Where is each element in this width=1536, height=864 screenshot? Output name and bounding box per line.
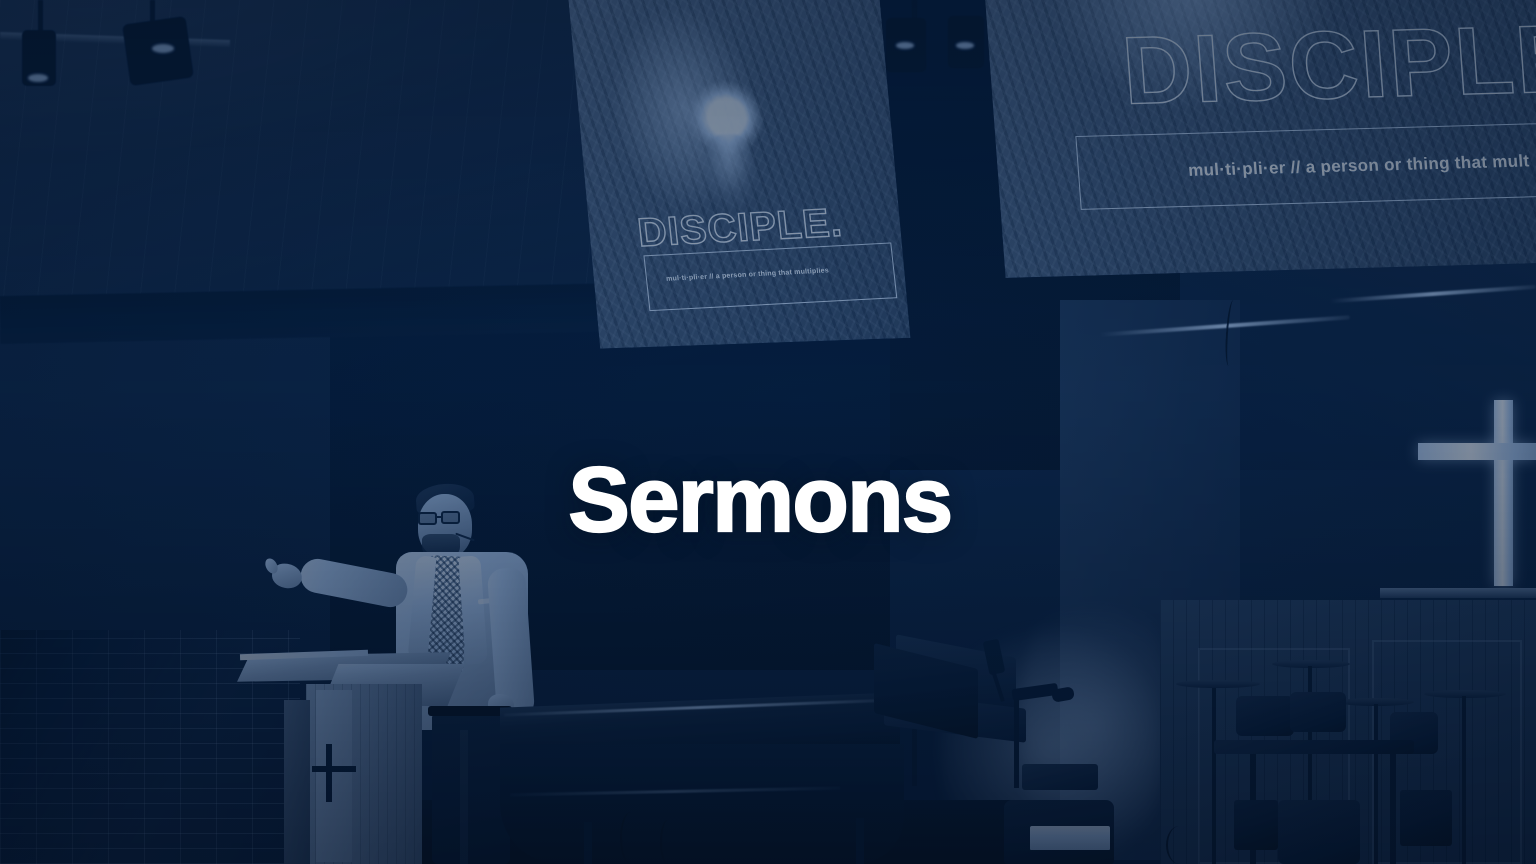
piano-leg <box>856 818 864 864</box>
bass-drum <box>1278 800 1360 864</box>
drum-cymbal <box>1176 680 1260 688</box>
pulpit-cross-horizontal <box>312 766 356 772</box>
cymbal-stand <box>1374 704 1378 864</box>
stage-cable <box>660 820 676 864</box>
drum-tom <box>1236 696 1294 736</box>
piano-leg <box>584 822 592 864</box>
drum-rack-leg <box>1390 754 1396 864</box>
hero-banner: DISCIPLE. mul·ti·pli·er // a person or t… <box>0 0 1536 864</box>
page-title: Sermons <box>0 454 1528 546</box>
speaker-trousers <box>432 712 510 864</box>
trouser-crease <box>460 730 468 864</box>
pulpit-cross-vertical <box>326 744 332 802</box>
drum-monitor <box>1400 790 1452 846</box>
hero-background-photo: DISCIPLE. mul·ti·pli·er // a person or t… <box>0 0 1536 864</box>
microphone-stand <box>1014 692 1019 788</box>
stage-cable <box>1166 826 1192 864</box>
drum-rack <box>1214 740 1414 754</box>
cymbal-stand <box>1212 688 1216 864</box>
pulpit-left-face <box>284 700 310 864</box>
open-book <box>1030 826 1110 850</box>
cymbal-stand <box>1462 696 1466 864</box>
pedal-board <box>1022 764 1098 790</box>
drum-module <box>1234 800 1278 850</box>
stage-cable <box>620 812 642 864</box>
drum-tom <box>1290 692 1346 732</box>
piano-body <box>500 744 904 864</box>
pulpit-inlay-panel <box>316 690 352 862</box>
speaker-extended-arm <box>298 556 411 610</box>
